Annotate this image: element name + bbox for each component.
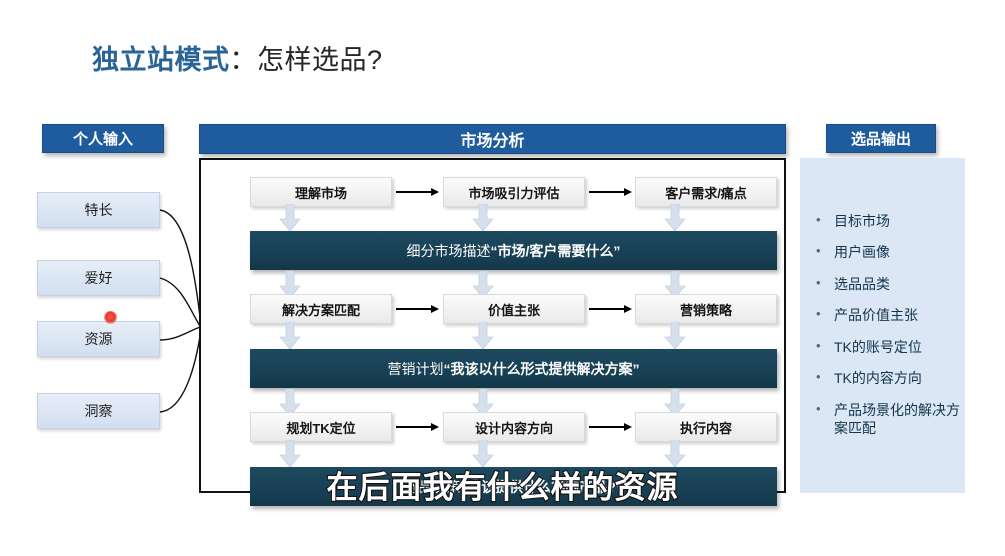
band-marketing-plan-quote: “我该以什么形式提供解决方案” xyxy=(444,359,640,379)
selection-output-list: 目标市场 用户画像 选品品类 产品价值主张 TK的账号定位 TK的内容方向 产品… xyxy=(812,212,962,451)
input-item-insight-label: 洞察 xyxy=(85,401,113,421)
input-item-specialty[interactable]: 特长 xyxy=(37,192,160,228)
band-segment-description: 细分市场描述 “市场/客户需要什么” xyxy=(250,231,777,270)
list-item: 产品场景化的解决方案匹配 xyxy=(812,401,962,438)
input-item-hobby-label: 爱好 xyxy=(85,268,113,288)
step-marketing-strategy[interactable]: 营销策略 xyxy=(635,294,777,324)
input-item-insight[interactable]: 洞察 xyxy=(37,393,160,429)
column-header-personal-input: 个人输入 xyxy=(42,124,164,153)
arrow-down-a1 xyxy=(279,204,301,232)
arrow-right-a1 xyxy=(396,187,439,197)
list-item: 目标市场 xyxy=(812,212,962,230)
input-item-resource-label: 资源 xyxy=(85,329,113,349)
step-execute-content[interactable]: 执行内容 xyxy=(635,412,777,442)
arrow-down-c2 xyxy=(472,322,494,350)
arrow-down-a3 xyxy=(664,204,686,232)
step-market-attractiveness[interactable]: 市场吸引力评估 xyxy=(443,177,585,207)
list-item: 产品价值主张 xyxy=(812,306,962,324)
output-item-0-label: 目标市场 xyxy=(834,213,890,229)
output-item-2-label: 选品品类 xyxy=(834,276,890,292)
step-marketing-strategy-label: 营销策略 xyxy=(680,300,732,319)
arrow-right-b2 xyxy=(589,304,632,314)
band-segment-description-prefix: 细分市场描述 xyxy=(407,241,491,261)
step-plan-tk-positioning[interactable]: 规划TK定位 xyxy=(250,412,392,442)
cursor-highlight-dot xyxy=(104,311,117,324)
step-value-proposition[interactable]: 价值主张 xyxy=(443,294,585,324)
output-item-4-label: TK的账号定位 xyxy=(834,339,922,355)
arrow-right-c2 xyxy=(589,422,632,432)
output-item-6-label: 产品场景化的解决方案匹配 xyxy=(834,402,960,436)
market-analysis-panel: 理解市场 市场吸引力评估 客户需求/痛点 细分市场描述 “市场/客户需要什么” … xyxy=(199,158,786,493)
selection-output-panel: 目标市场 用户画像 选品品类 产品价值主张 TK的账号定位 TK的内容方向 产品… xyxy=(800,158,965,493)
list-item: TK的内容方向 xyxy=(812,369,962,387)
step-understand-market-label: 理解市场 xyxy=(295,183,347,202)
input-item-hobby[interactable]: 爱好 xyxy=(37,260,160,296)
list-item: 选品品类 xyxy=(812,275,962,293)
column-header-selection-output: 选品输出 xyxy=(826,124,936,153)
step-design-content-direction[interactable]: 设计内容方向 xyxy=(443,412,585,442)
band-marketing-plan-prefix: 营销计划 xyxy=(388,359,444,379)
step-value-proposition-label: 价值主张 xyxy=(488,300,540,319)
column-header-market-analysis: 市场分析 xyxy=(199,124,786,154)
column-header-selection-output-label: 选品输出 xyxy=(851,128,911,149)
page-title-rest: ：怎样选品? xyxy=(230,45,383,75)
step-customer-needs-label: 客户需求/痛点 xyxy=(665,183,747,202)
input-item-specialty-label: 特长 xyxy=(85,200,113,220)
step-market-attractiveness-label: 市场吸引力评估 xyxy=(468,183,559,202)
step-plan-tk-positioning-label: 规划TK定位 xyxy=(286,418,355,437)
step-execute-content-label: 执行内容 xyxy=(680,418,732,437)
step-understand-market[interactable]: 理解市场 xyxy=(250,177,392,207)
band-marketing-plan: 营销计划 “我该以什么形式提供解决方案” xyxy=(250,349,777,388)
output-item-5-label: TK的内容方向 xyxy=(834,370,922,386)
step-solution-match[interactable]: 解决方案匹配 xyxy=(250,294,392,324)
input-item-resource[interactable]: 资源 xyxy=(37,321,160,357)
arrow-right-a2 xyxy=(589,187,632,197)
subtitle-caption: 在后面我有什么样的资源 xyxy=(0,462,1005,507)
arrow-down-c1 xyxy=(279,322,301,350)
step-solution-match-label: 解决方案匹配 xyxy=(282,300,360,319)
arrow-down-c3 xyxy=(664,322,686,350)
output-item-3-label: 产品价值主张 xyxy=(834,307,918,323)
page-title-accent: 独立站模式 xyxy=(92,45,230,75)
output-item-1-label: 用户画像 xyxy=(834,244,890,260)
arrow-right-c1 xyxy=(396,422,439,432)
page-title: 独立站模式：怎样选品? xyxy=(92,38,383,77)
list-item: 用户画像 xyxy=(812,243,962,261)
arrow-right-b1 xyxy=(396,304,439,314)
column-header-market-analysis-label: 市场分析 xyxy=(460,127,524,151)
step-customer-needs[interactable]: 客户需求/痛点 xyxy=(635,177,777,207)
arrow-down-a2 xyxy=(472,204,494,232)
step-design-content-direction-label: 设计内容方向 xyxy=(475,418,553,437)
column-header-personal-input-label: 个人输入 xyxy=(73,128,133,149)
band-segment-description-quote: “市场/客户需要什么” xyxy=(491,241,621,261)
list-item: TK的账号定位 xyxy=(812,338,962,356)
